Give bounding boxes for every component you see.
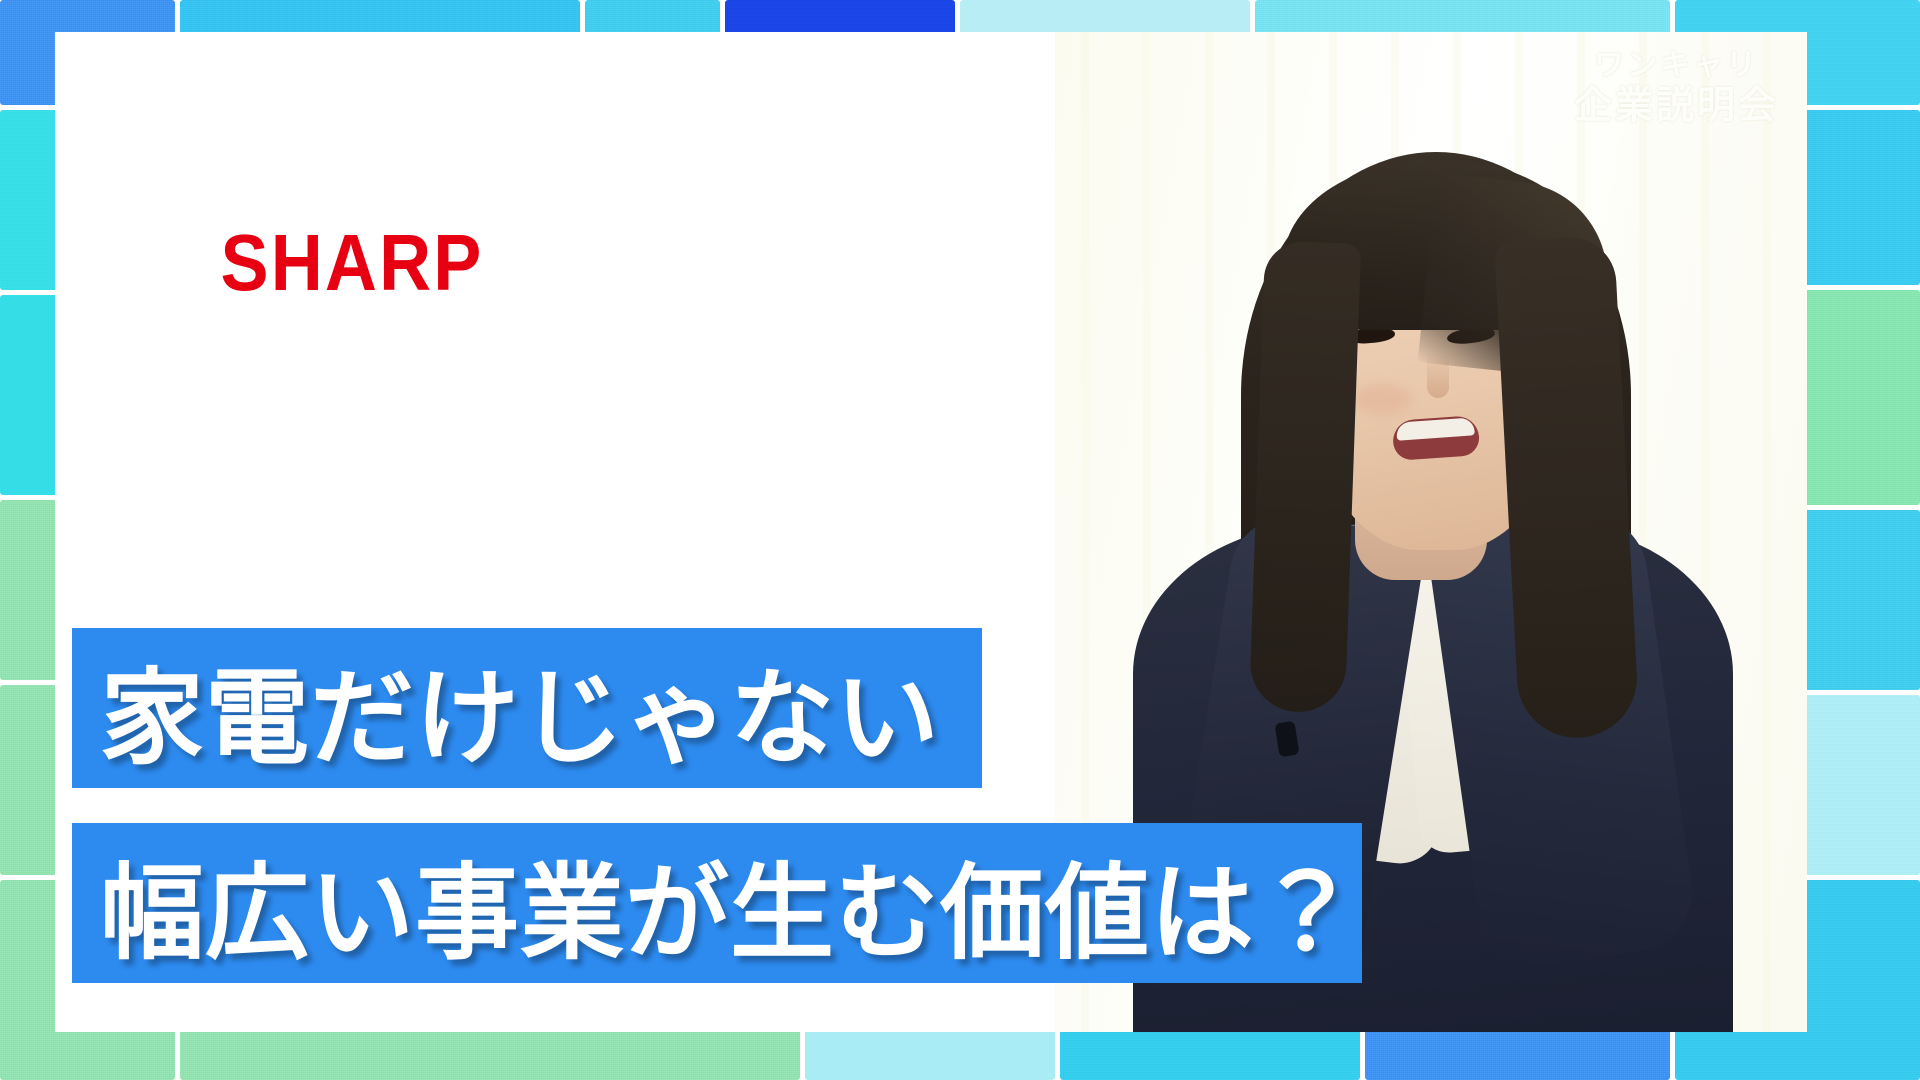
teeth <box>1396 417 1475 440</box>
caption-band-secondary: 幅広い事業が生む価値は？ <box>72 823 1362 983</box>
caption-text-line-1: 家電だけじゃない <box>100 633 940 784</box>
caption-band-primary: 家電だけじゃない <box>72 628 982 788</box>
mouth <box>1392 415 1481 461</box>
cheek-blush <box>1353 384 1411 414</box>
video-thumbnail: SHARP <box>0 0 1920 1080</box>
sharp-wordmark: SHARP <box>221 222 484 302</box>
sharp-logo-panel: SHARP <box>143 85 561 440</box>
caption-text-line-2: 幅広い事業が生む価値は？ <box>100 828 1360 979</box>
caption-divider <box>540 790 870 816</box>
hair-side-left <box>1249 240 1361 713</box>
